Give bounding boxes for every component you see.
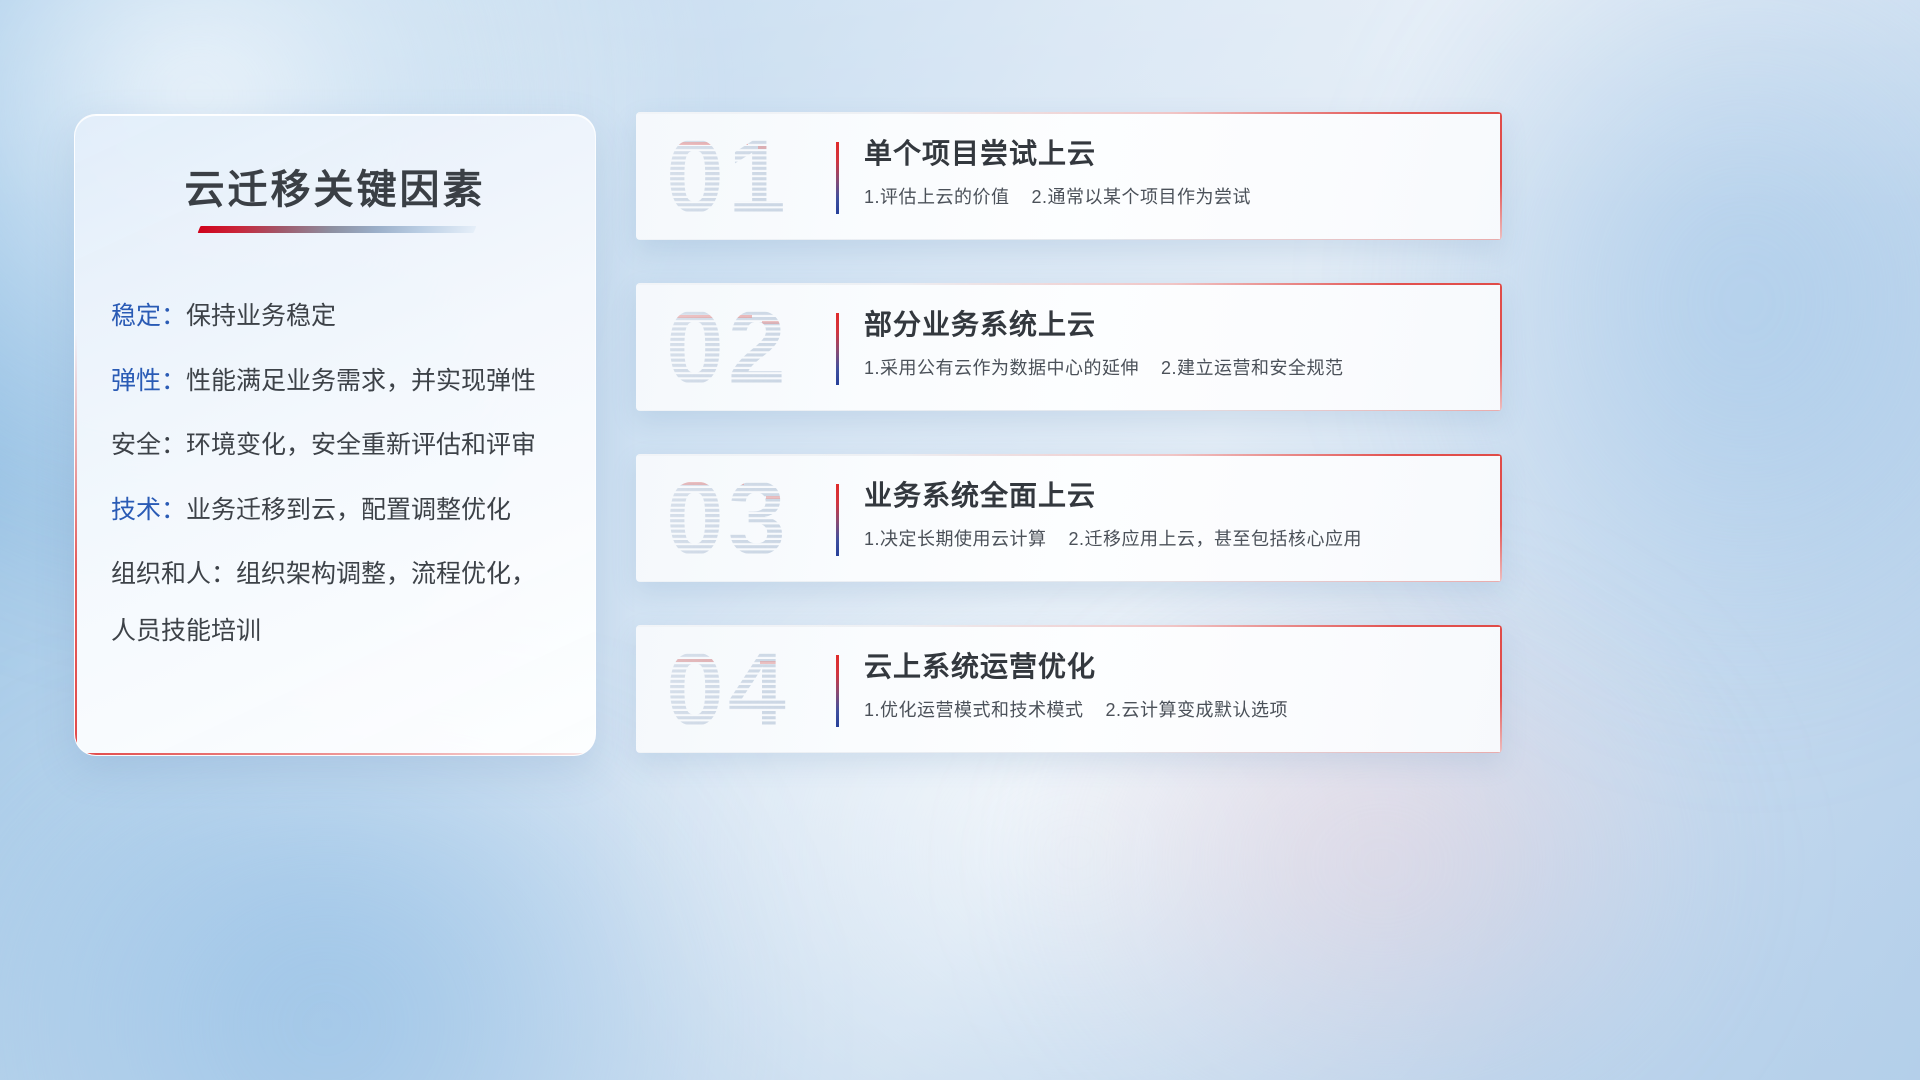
- card-accent-bar: [836, 655, 839, 727]
- card-description: 1.决定长期使用云计算 2.迁移应用上云，甚至包括核心应用: [864, 525, 1462, 551]
- factor-item-organization-continuation: 人员技能培训: [111, 618, 571, 646]
- card-description: 1.评估上云的价值 2.通常以某个项目作为尝试: [864, 183, 1462, 209]
- card-accent-bar: [836, 484, 839, 556]
- card-content: 单个项目尝试上云 1.评估上云的价值 2.通常以某个项目作为尝试: [864, 136, 1462, 209]
- factor-item-stability: 稳定：保持业务稳定: [111, 303, 571, 331]
- card-title: 云上系统运营优化: [864, 649, 1462, 684]
- stage-number-glyph: 02: [662, 291, 852, 403]
- card-top-accent: [636, 625, 1502, 627]
- stage-card[interactable]: 01 单个项目尝试上云 1.评估上云的价值 2.通常以某个项目作为尝试: [636, 112, 1502, 240]
- card-content: 业务系统全面上云 1.决定长期使用云计算 2.迁移应用上云，甚至包括核心应用: [864, 478, 1462, 551]
- page-title: 云迁移关键因素: [75, 157, 595, 215]
- factor-item-technology: 技术：业务迁移到云，配置调整优化: [111, 497, 571, 525]
- title-underline-accent: [198, 226, 477, 233]
- card-bottom-accent: [636, 410, 1502, 411]
- card-description: 1.采用公有云作为数据中心的延伸 2.建立运营和安全规范: [864, 354, 1462, 380]
- factor-label: 弹性：: [111, 367, 186, 395]
- key-factors-panel: 云迁移关键因素 稳定：保持业务稳定 弹性：性能满足业务需求，并实现弹性 安全：环…: [74, 114, 596, 756]
- factor-item-security: 安全：环境变化，安全重新评估和评审: [111, 432, 571, 460]
- card-top-accent: [636, 454, 1502, 456]
- factor-text: 性能满足业务需求，并实现弹性: [186, 367, 536, 395]
- stage-card-list: 01 单个项目尝试上云 1.评估上云的价值 2.通常以某个项目作为尝试: [636, 112, 1502, 796]
- stage-number-glyph: 04: [662, 633, 852, 745]
- card-bottom-accent: [636, 239, 1502, 240]
- card-content: 云上系统运营优化 1.优化运营模式和技术模式 2.云计算变成默认选项: [864, 649, 1462, 722]
- card-title: 单个项目尝试上云: [864, 136, 1462, 171]
- card-content: 部分业务系统上云 1.采用公有云作为数据中心的延伸 2.建立运营和安全规范: [864, 307, 1462, 380]
- card-right-accent: [1500, 283, 1502, 411]
- card-bottom-accent: [636, 581, 1502, 582]
- stage-card[interactable]: 04 云上系统运营优化 1.优化运营模式和技术模式 2.云计算变成默认选项: [636, 625, 1502, 753]
- card-bottom-accent: [636, 752, 1502, 753]
- stage-number-glyph: 01: [662, 120, 852, 232]
- factor-item-organization: 组织和人：组织架构调整，流程优化，: [111, 561, 571, 589]
- card-right-accent: [1500, 625, 1502, 753]
- factor-label: 安全：: [111, 431, 186, 459]
- card-right-accent: [1500, 454, 1502, 582]
- card-accent-bar: [836, 142, 839, 214]
- factor-item-elasticity: 弹性：性能满足业务需求，并实现弹性: [111, 368, 571, 396]
- card-top-accent: [636, 283, 1502, 285]
- factor-text: 业务迁移到云，配置调整优化: [186, 496, 511, 524]
- factor-list: 稳定：保持业务稳定 弹性：性能满足业务需求，并实现弹性 安全：环境变化，安全重新…: [111, 303, 571, 645]
- factor-label: 组织和人：: [111, 560, 236, 588]
- stage-number-glyph: 03: [662, 462, 852, 574]
- factor-label: 稳定：: [111, 302, 186, 330]
- factor-text: 保持业务稳定: [186, 302, 336, 330]
- factor-label: 技术：: [111, 496, 186, 524]
- card-right-accent: [1500, 112, 1502, 240]
- stage-card[interactable]: 02 部分业务系统上云 1.采用公有云作为数据中心的延伸 2.建立运营和安全规范: [636, 283, 1502, 411]
- factor-text: 组织架构调整，流程优化，: [236, 560, 536, 588]
- factor-text: 环境变化，安全重新评估和评审: [186, 431, 536, 459]
- card-top-accent: [636, 112, 1502, 114]
- card-accent-bar: [836, 313, 839, 385]
- card-title: 业务系统全面上云: [864, 478, 1462, 513]
- card-description: 1.优化运营模式和技术模式 2.云计算变成默认选项: [864, 696, 1462, 722]
- stage-card[interactable]: 03 业务系统全面上云 1.决定长期使用云计算 2.迁移应用上云，甚至包括核心应…: [636, 454, 1502, 582]
- card-title: 部分业务系统上云: [864, 307, 1462, 342]
